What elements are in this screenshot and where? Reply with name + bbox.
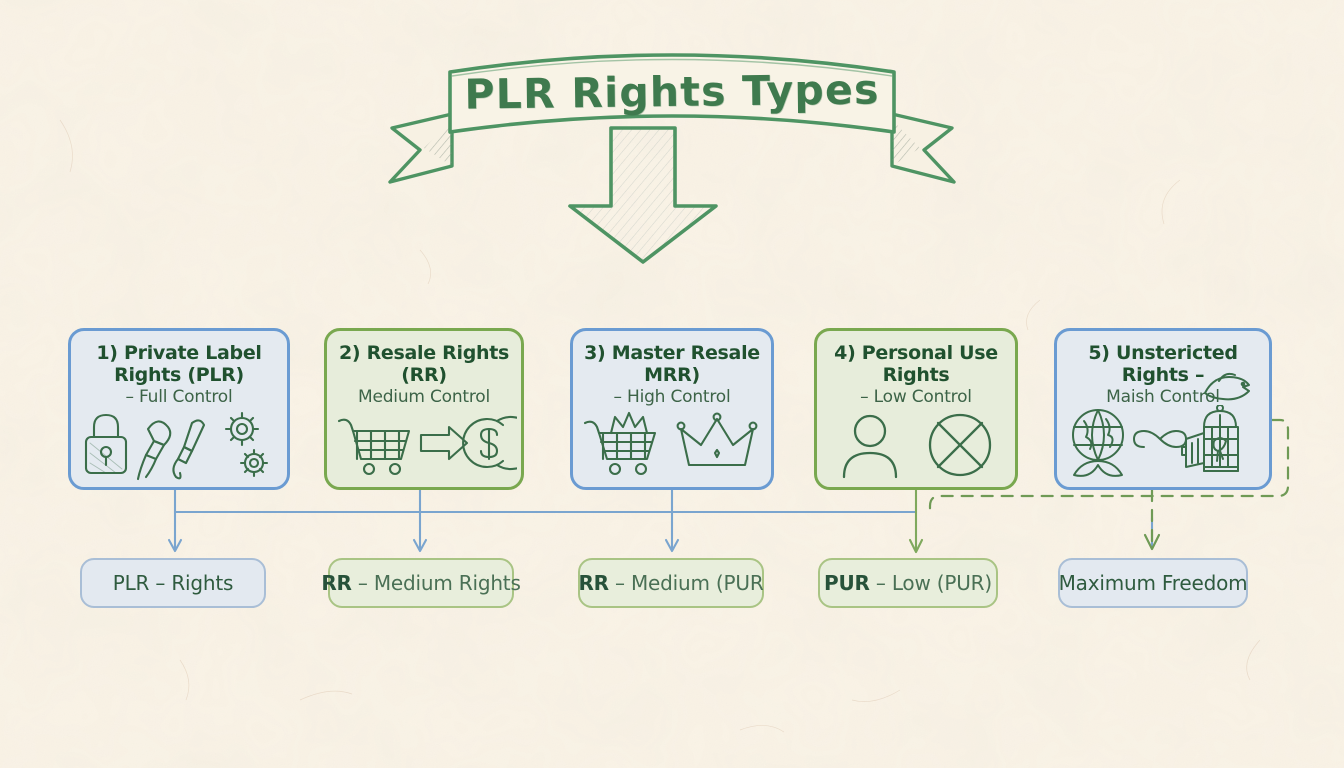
- gear-small-icon: [241, 450, 267, 476]
- person-icon: [844, 416, 896, 477]
- card-private-label-rights[interactable]: 1) Private Label Rights (PLR) – Full Con…: [68, 328, 290, 490]
- pill-rr-medium-rights[interactable]: RR – Medium Rights: [328, 558, 514, 608]
- shopping-cart-icon: [339, 420, 409, 474]
- card-title: 1) Private Label Rights (PLR): [80, 343, 279, 386]
- gear-icon: [226, 413, 258, 445]
- pill-label: RR – Medium (PUR: [578, 571, 763, 595]
- pill-label: PUR – Low (PUR): [824, 571, 992, 595]
- card-subtitle: Medium Control: [358, 388, 490, 408]
- pill-rr-medium-pur[interactable]: RR – Medium (PUR: [578, 558, 764, 608]
- no-entry-crossed-circle-icon: [930, 415, 990, 475]
- open-birdcage-icon: [1182, 405, 1238, 471]
- card-personal-use-rights[interactable]: 4) Personal Use Rights – Low Control: [814, 328, 1018, 490]
- card-icon-group: [1057, 405, 1269, 481]
- infinity-icon: [1134, 431, 1186, 447]
- card-subtitle: – High Control: [613, 388, 730, 408]
- card-subtitle: – Full Control: [125, 388, 232, 408]
- card-title: 2) Resale Rights (RR): [335, 343, 513, 386]
- card-title: 4) Personal Use Rights: [825, 343, 1007, 386]
- dove-icon: [1199, 367, 1255, 407]
- card-icon-group: [327, 411, 521, 481]
- card-master-resale-rights[interactable]: 3) Master Resale MRR) – High Control: [570, 328, 774, 490]
- pill-label: PLR – Rights: [113, 571, 234, 595]
- arrow-right-icon: [421, 427, 467, 459]
- card-resale-rights[interactable]: 2) Resale Rights (RR) Medium Control: [324, 328, 524, 490]
- pill-pur-low[interactable]: PUR – Low (PUR): [818, 558, 998, 608]
- dollar-coin-icon: [463, 417, 517, 469]
- pill-maximum-freedom[interactable]: Maximum Freedom: [1058, 558, 1248, 608]
- card-icon-group: [71, 407, 287, 481]
- paintbrush-icon: [138, 421, 170, 479]
- card-title: 3) Master Resale MRR): [581, 343, 763, 386]
- crown-icon: [678, 414, 757, 465]
- padlock-icon: [86, 415, 126, 473]
- pill-label: RR – Medium Rights: [321, 571, 520, 595]
- card-unrestricted-rights[interactable]: 5) Unstericted Rights – Maish Control: [1054, 328, 1272, 490]
- globe-leaves-icon: [1073, 410, 1123, 476]
- pill-label: Maximum Freedom: [1059, 571, 1248, 595]
- card-icon-group: [573, 409, 771, 481]
- shopping-cart-crown-icon: [585, 413, 655, 474]
- paintbrush-angled-icon: [173, 420, 204, 478]
- card-icon-group: [817, 409, 1015, 481]
- pill-plr-rights[interactable]: PLR – Rights: [80, 558, 266, 608]
- card-subtitle: – Low Control: [860, 388, 972, 408]
